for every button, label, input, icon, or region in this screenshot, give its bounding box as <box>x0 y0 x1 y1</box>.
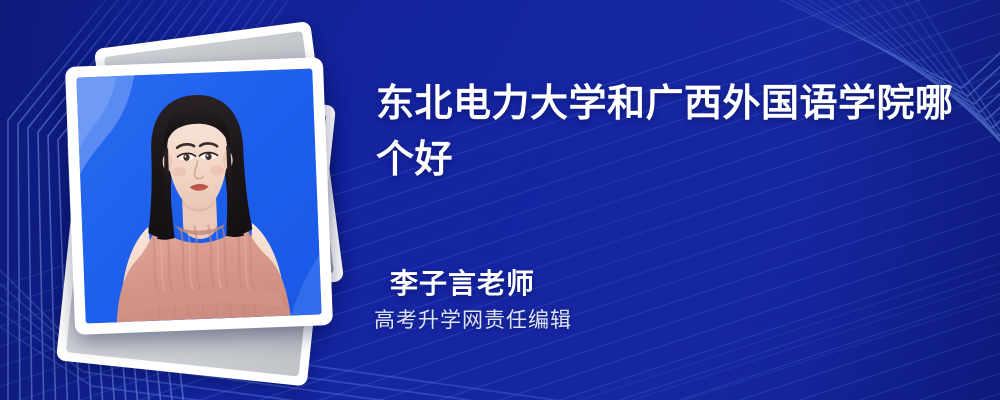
author-photo <box>76 69 321 324</box>
author-block: 李子言老师 高考升学网责任编辑 <box>372 264 792 338</box>
author-name: 李子言老师 <box>372 264 792 304</box>
author-photo-card <box>65 57 333 335</box>
page-title-line-1: 东北电力大学和广西外国语学院哪 <box>376 83 954 125</box>
page-title: 东北电力大学和广西外国语学院哪 个好 <box>376 76 966 188</box>
author-portrait-illustration <box>76 69 321 324</box>
page-title-line-2: 个好 <box>376 139 453 181</box>
article-cover-banner: 东北电力大学和广西外国语学院哪 个好 李子言老师 高考升学网责任编辑 <box>0 0 1000 400</box>
author-role: 高考升学网责任编辑 <box>372 304 792 338</box>
photo-stack <box>48 28 358 368</box>
